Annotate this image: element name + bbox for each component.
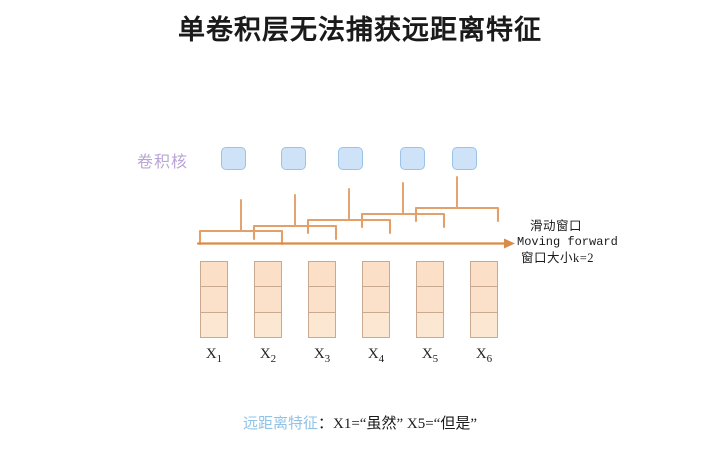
token-column-1 bbox=[200, 261, 228, 338]
token-label-3: X3 bbox=[302, 346, 342, 365]
token-column-3 bbox=[308, 261, 336, 338]
token-label-6: X6 bbox=[464, 346, 504, 365]
kernel-box-4 bbox=[400, 147, 425, 170]
token-label-index: 3 bbox=[325, 353, 331, 365]
diagram-canvas: 单卷积层无法捕获远距离特征 卷积核 bbox=[0, 0, 720, 471]
token-label-text: X bbox=[368, 346, 379, 362]
token-label-index: 5 bbox=[433, 353, 439, 365]
token-label-text: X bbox=[476, 346, 487, 362]
token-cell bbox=[309, 313, 335, 337]
long-range-feature-note: 远距离特征：X1=“虽然” X5=“但是” bbox=[0, 412, 720, 433]
token-cell bbox=[309, 262, 335, 287]
token-cell bbox=[417, 262, 443, 287]
window-bracket-4 bbox=[362, 214, 444, 227]
token-cell bbox=[201, 262, 227, 287]
footer-highlight: 远距离特征 bbox=[243, 416, 318, 432]
window-bracket-2 bbox=[254, 226, 336, 239]
token-label-index: 1 bbox=[217, 353, 223, 365]
token-cell bbox=[417, 313, 443, 337]
token-label-5: X5 bbox=[410, 346, 450, 365]
token-label-text: X bbox=[206, 346, 217, 362]
token-cell bbox=[363, 262, 389, 287]
token-column-2 bbox=[254, 261, 282, 338]
window-bracket-5 bbox=[416, 208, 498, 221]
token-cell bbox=[255, 313, 281, 337]
token-label-text: X bbox=[314, 346, 325, 362]
token-label-1: X1 bbox=[194, 346, 234, 365]
token-label-index: 2 bbox=[271, 353, 277, 365]
token-cell bbox=[471, 287, 497, 312]
token-cell bbox=[255, 287, 281, 312]
token-column-4 bbox=[362, 261, 390, 338]
caption-line-cn: 滑动窗口 bbox=[517, 218, 707, 234]
token-label-index: 6 bbox=[487, 353, 493, 365]
token-cell bbox=[255, 262, 281, 287]
kernel-box-3 bbox=[338, 147, 363, 170]
token-column-5 bbox=[416, 261, 444, 338]
token-label-2: X2 bbox=[248, 346, 288, 365]
footer-rest: ：X1=“虽然” X5=“但是” bbox=[318, 416, 477, 432]
kernel-box-1 bbox=[221, 147, 246, 170]
moving-forward-arrow bbox=[198, 239, 515, 249]
token-cell bbox=[417, 287, 443, 312]
window-bracket-3 bbox=[308, 220, 390, 233]
caption-line-en: Moving forward bbox=[517, 234, 707, 250]
kernel-box-5 bbox=[452, 147, 477, 170]
caption-line-size: 窗口大小k=2 bbox=[517, 250, 707, 266]
token-label-text: X bbox=[422, 346, 433, 362]
token-cell bbox=[471, 262, 497, 287]
token-cell bbox=[201, 287, 227, 312]
sliding-window-caption: 滑动窗口 Moving forward 窗口大小k=2 bbox=[517, 218, 707, 266]
token-cell bbox=[363, 313, 389, 337]
token-cell bbox=[201, 313, 227, 337]
token-label-text: X bbox=[260, 346, 271, 362]
window-bracket-1 bbox=[200, 231, 282, 244]
token-cell bbox=[471, 313, 497, 337]
token-label-index: 4 bbox=[379, 353, 385, 365]
kernel-label: 卷积核 bbox=[137, 148, 188, 172]
kernel-box-2 bbox=[281, 147, 306, 170]
token-column-6 bbox=[470, 261, 498, 338]
token-cell bbox=[363, 287, 389, 312]
token-label-4: X4 bbox=[356, 346, 396, 365]
token-cell bbox=[309, 287, 335, 312]
page-title: 单卷积层无法捕获远距离特征 bbox=[0, 8, 720, 47]
